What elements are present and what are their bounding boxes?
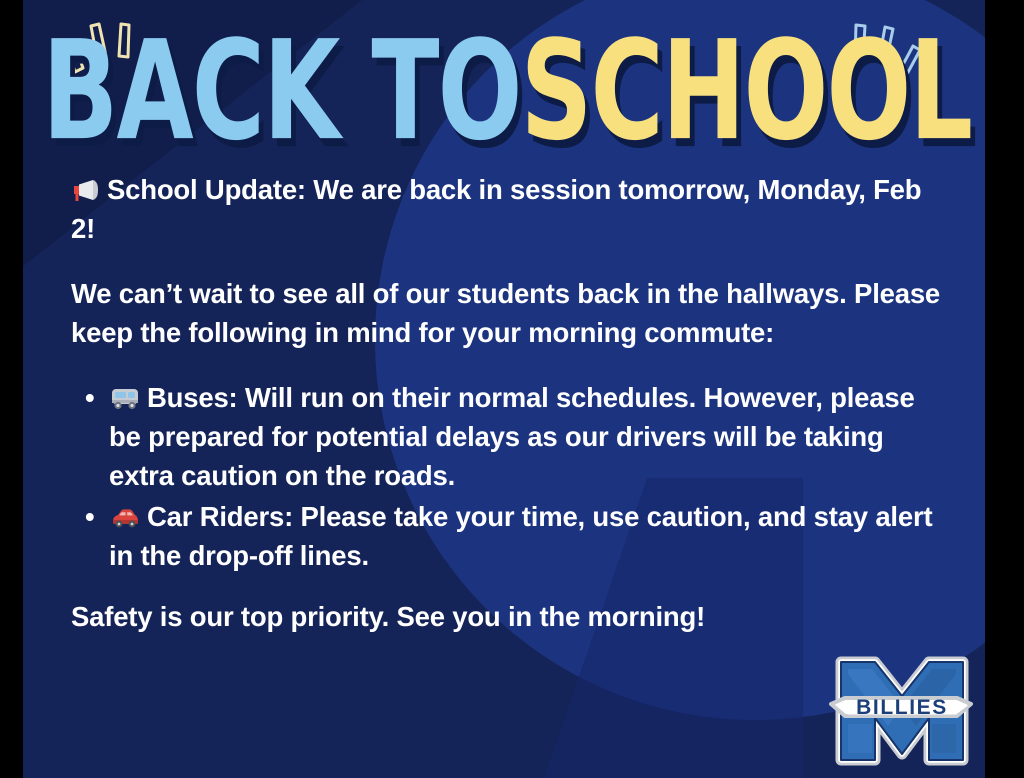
page-title: BACK TOSCHOOL! <box>42 22 966 159</box>
list-item-car-riders-text: Car Riders: Please take your time, use c… <box>109 501 932 571</box>
billies-banner-text: BILLIES <box>856 696 948 719</box>
loudspeaker-icon <box>71 177 101 203</box>
commute-bullet-list: • Buses: Will run on their normal schedu… <box>71 378 945 575</box>
headline-paragraph: School Update: We are back in session to… <box>71 170 945 248</box>
title-row: BACK TOSCHOOL! <box>23 8 985 158</box>
body-content: School Update: We are back in session to… <box>71 170 945 662</box>
bullet-marker: • <box>85 378 94 417</box>
billies-banner: BILLIES <box>831 696 971 719</box>
list-item-buses-text: Buses: Will run on their normal schedule… <box>109 382 915 491</box>
intro-paragraph: We can’t wait to see all of our students… <box>71 274 945 352</box>
title-part-school: SCHOOL! <box>521 10 985 171</box>
closing-paragraph: Safety is our top priority. See you in t… <box>71 597 945 636</box>
bus-icon <box>109 385 141 411</box>
bullet-marker: • <box>85 497 94 536</box>
poster-stage: BACK TOSCHOOL! School Update: We are bac… <box>0 0 1024 778</box>
headline-text: School Update: We are back in session to… <box>71 174 921 244</box>
list-item-car-riders: • Car Riders: Please take your time, use… <box>105 497 945 575</box>
billies-m-logo: BILLIES <box>827 652 977 770</box>
poster-canvas: BACK TOSCHOOL! School Update: We are bac… <box>23 0 985 778</box>
title-part-back-to: BACK TO <box>42 10 520 171</box>
car-icon <box>109 504 141 530</box>
list-item-buses: • Buses: Will run on their normal schedu… <box>105 378 945 495</box>
